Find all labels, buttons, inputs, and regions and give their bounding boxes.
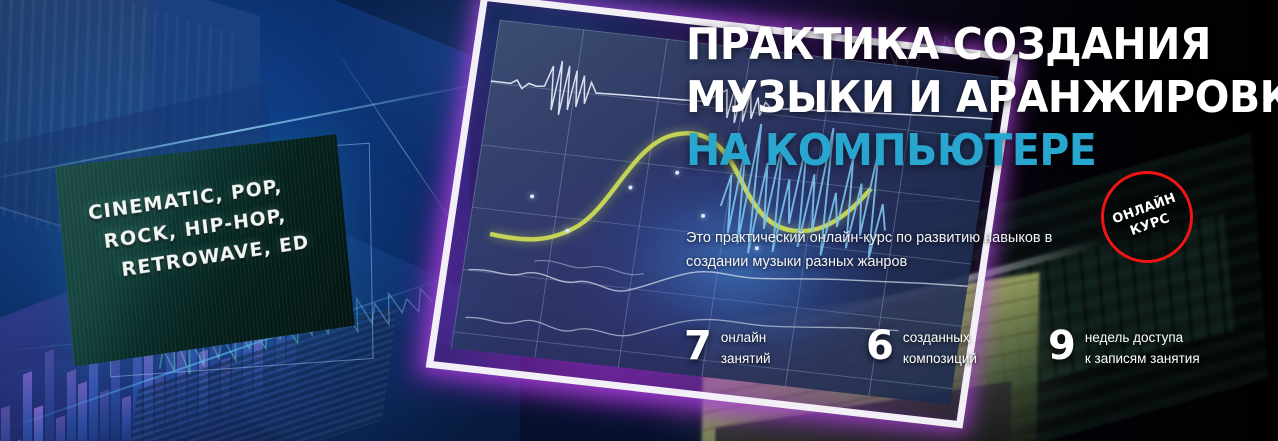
- stat-item: 7 онлайн занятий: [684, 325, 771, 369]
- page-title: ПРАКТИКА СОЗДАНИЯ МУЗЫКИ И АРАНЖИРОВКИ Н…: [686, 18, 1246, 177]
- stat-label-line-1: онлайн: [721, 327, 771, 348]
- stat-number: 7: [684, 326, 712, 366]
- stat-label-line-1: недель доступа: [1085, 327, 1200, 348]
- course-hero-banner: CINEMATIC, POP, ROCK, HIP-HOP, RETROWAVE…: [0, 0, 1278, 441]
- headline-line-3: НА КОМПЬЮТЕРЕ: [686, 124, 1207, 177]
- stat-label-line-2: композиций: [903, 348, 977, 369]
- stat-label: недель доступа к записям занятия: [1085, 325, 1200, 369]
- subtitle: Это практический онлайн-курс по развитию…: [686, 226, 1086, 274]
- stat-label-line-2: занятий: [721, 348, 771, 369]
- stat-item: 9 недель доступа к записям занятия: [1048, 325, 1200, 369]
- badge-text: ОНЛАЙН КУРС: [1110, 190, 1184, 245]
- status-badge: ОНЛАЙН КУРС: [1101, 171, 1193, 263]
- stats-row: 7 онлайн занятий 6 созданных композиций …: [684, 325, 1244, 375]
- stat-item: 6 созданных композиций: [866, 325, 977, 369]
- stat-label: созданных композиций: [903, 325, 977, 369]
- headline-line-2: МУЗЫКИ И АРАНЖИРОВКИ: [686, 71, 1207, 124]
- stat-label-line-1: созданных: [903, 327, 977, 348]
- stat-number: 9: [1048, 326, 1076, 366]
- stat-label: онлайн занятий: [721, 325, 771, 369]
- genre-screen: CINEMATIC, POP, ROCK, HIP-HOP, RETROWAVE…: [55, 134, 354, 366]
- stat-number: 6: [866, 326, 894, 366]
- headline-line-1: ПРАКТИКА СОЗДАНИЯ: [686, 18, 1207, 71]
- stat-label-line-2: к записям занятия: [1085, 348, 1200, 369]
